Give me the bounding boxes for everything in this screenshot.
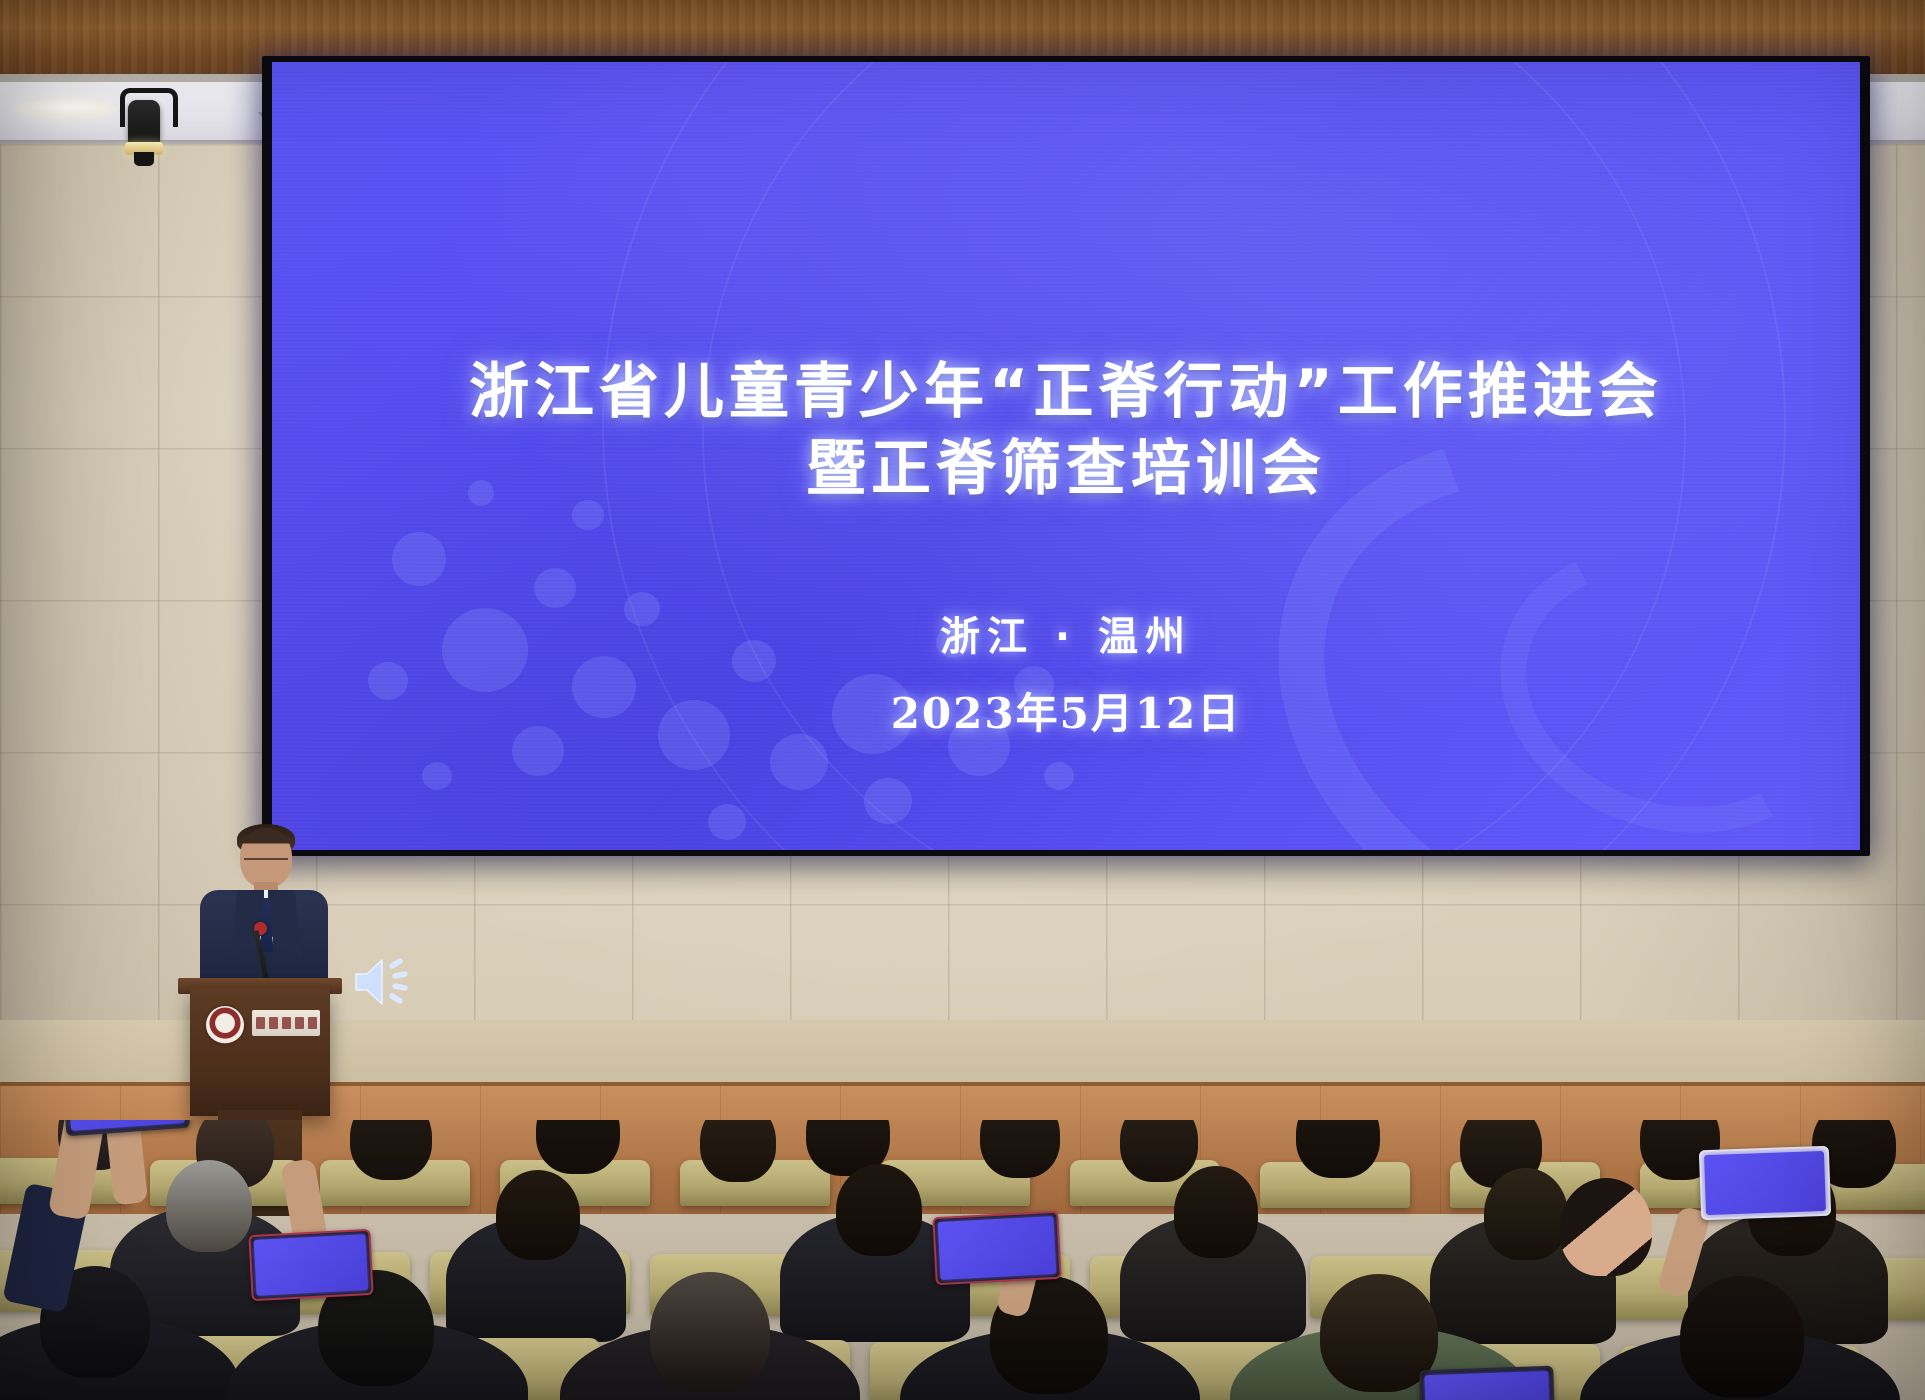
audience-head bbox=[650, 1272, 770, 1392]
podium-emblem-icon bbox=[206, 1006, 244, 1044]
audience-head-profile bbox=[1560, 1178, 1652, 1276]
presenter-glasses bbox=[244, 858, 288, 869]
audience-head bbox=[1120, 1120, 1198, 1182]
audience-head bbox=[166, 1160, 252, 1252]
audience-head bbox=[350, 1120, 432, 1180]
audience-head bbox=[1680, 1276, 1804, 1398]
audience-head bbox=[836, 1164, 922, 1256]
slide-location: 浙江 · 温州 bbox=[891, 604, 1242, 662]
podium bbox=[190, 988, 330, 1116]
slide-title-block: 浙江省儿童青少年“正脊行动”工作推进会 暨正脊筛查培训会 bbox=[469, 354, 1663, 508]
audience-head bbox=[980, 1120, 1060, 1178]
audience-phone[interactable] bbox=[932, 1211, 1061, 1286]
audience-phone[interactable] bbox=[1419, 1366, 1555, 1400]
slide-meta-block: 浙江 · 温州 2023年5月12日 bbox=[891, 604, 1242, 741]
audience-phone[interactable] bbox=[1699, 1146, 1831, 1220]
audience-phone[interactable] bbox=[248, 1229, 373, 1301]
slide-date: 2023年5月12日 bbox=[891, 680, 1242, 741]
audience-head bbox=[1296, 1120, 1380, 1178]
led-screen[interactable]: 浙江省儿童青少年“正脊行动”工作推进会 暨正脊筛查培训会 浙江 · 温州 202… bbox=[272, 62, 1860, 850]
slide-title-line-2: 暨正脊筛查培训会 bbox=[469, 431, 1663, 508]
slide-title-line-1: 浙江省儿童青少年“正脊行动”工作推进会 bbox=[469, 354, 1663, 431]
audience-head bbox=[1174, 1166, 1258, 1258]
speaker-volume-icon bbox=[352, 952, 416, 1012]
ceiling-pot-light bbox=[14, 98, 118, 120]
audience-head bbox=[700, 1120, 776, 1182]
audience bbox=[0, 1120, 1925, 1400]
audience-head bbox=[496, 1170, 580, 1260]
podium-nameplate bbox=[252, 1010, 320, 1036]
track-light bbox=[118, 88, 170, 168]
audience-head bbox=[1484, 1168, 1568, 1260]
screenshot-root: 浙江省儿童青少年“正脊行动”工作推进会 暨正脊筛查培训会 浙江 · 温州 202… bbox=[0, 0, 1925, 1400]
